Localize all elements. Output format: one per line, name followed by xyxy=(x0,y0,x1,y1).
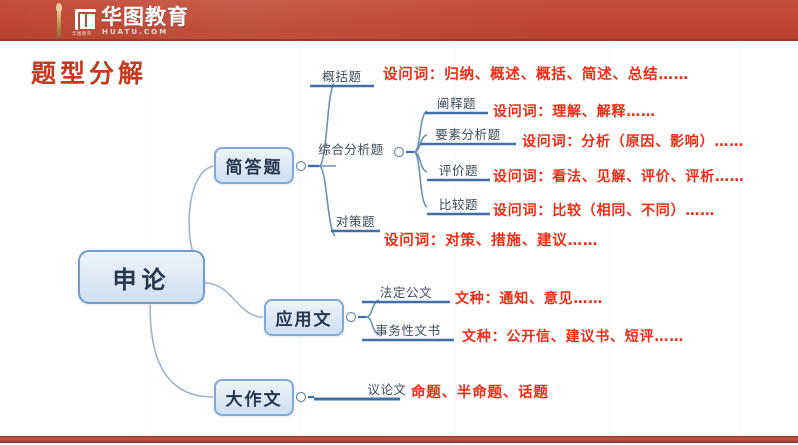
leaf-gaikuo-ti[interactable]: 概括题 xyxy=(310,66,374,85)
leaf-bijiao-ti[interactable]: 比较题 xyxy=(427,194,490,213)
note-chanshi-ti: 设问词：理解、解释…… xyxy=(493,101,656,121)
leaf-duice-ti[interactable]: 对策题 xyxy=(331,211,380,230)
hub-zonghe xyxy=(395,148,404,157)
note-bijiao-ti: 设问词：比较（相同、不同）…… xyxy=(493,200,715,220)
note-shiwuxing-wenshu: 文种：公开信、建议书、短评…… xyxy=(462,326,684,346)
hub-yingyong xyxy=(347,313,356,322)
hub-jianda xyxy=(297,162,306,171)
note-gaikuo-ti: 设问词：归纳、概述、概括、简述、总结…… xyxy=(383,63,689,84)
leaf-zonghe-fenxi-ti[interactable]: 综合分析题 xyxy=(313,139,389,158)
slide-canvas: 华图教育 HUATU.COM 华图教育 题型分解 xyxy=(0,0,798,445)
node-root-shenlun[interactable]: 申论 xyxy=(78,250,205,304)
leaf-chanshi-ti[interactable]: 阐释题 xyxy=(425,93,488,112)
note-yaosu-fenxi-ti: 设问词：分析（原因、影响）…… xyxy=(522,131,744,151)
leaf-yaosu-fenxi-ti[interactable]: 要素分析题 xyxy=(420,124,516,143)
note-duice-ti: 设问词：对策、措施、建议…… xyxy=(384,229,598,250)
leaf-fading-gongwen[interactable]: 法定公文 xyxy=(362,282,450,301)
node-dazuowen[interactable]: 大作文 xyxy=(214,379,294,416)
note-fading-gongwen: 文种：通知、意见…… xyxy=(455,288,603,308)
node-yingyong-wen[interactable]: 应用文 xyxy=(264,299,344,336)
leaf-pingjia-ti[interactable]: 评价题 xyxy=(427,160,490,179)
note-pingjia-ti: 设问词：看法、见解、评价、评析…… xyxy=(493,166,745,186)
leaf-yilunwen[interactable]: 议论文 xyxy=(360,379,414,398)
wire-root-to-yingyong xyxy=(205,283,263,317)
wire-root-to-dazuowen xyxy=(150,305,213,397)
node-jianda-ti[interactable]: 简答题 xyxy=(214,147,294,184)
footer-bar xyxy=(0,436,798,443)
note-yilunwen: 命题、半命题、话题 xyxy=(411,381,549,402)
hub-dazuowen xyxy=(297,393,306,402)
leaf-shiwuxing-wenshu[interactable]: 事务性文书 xyxy=(362,320,454,339)
